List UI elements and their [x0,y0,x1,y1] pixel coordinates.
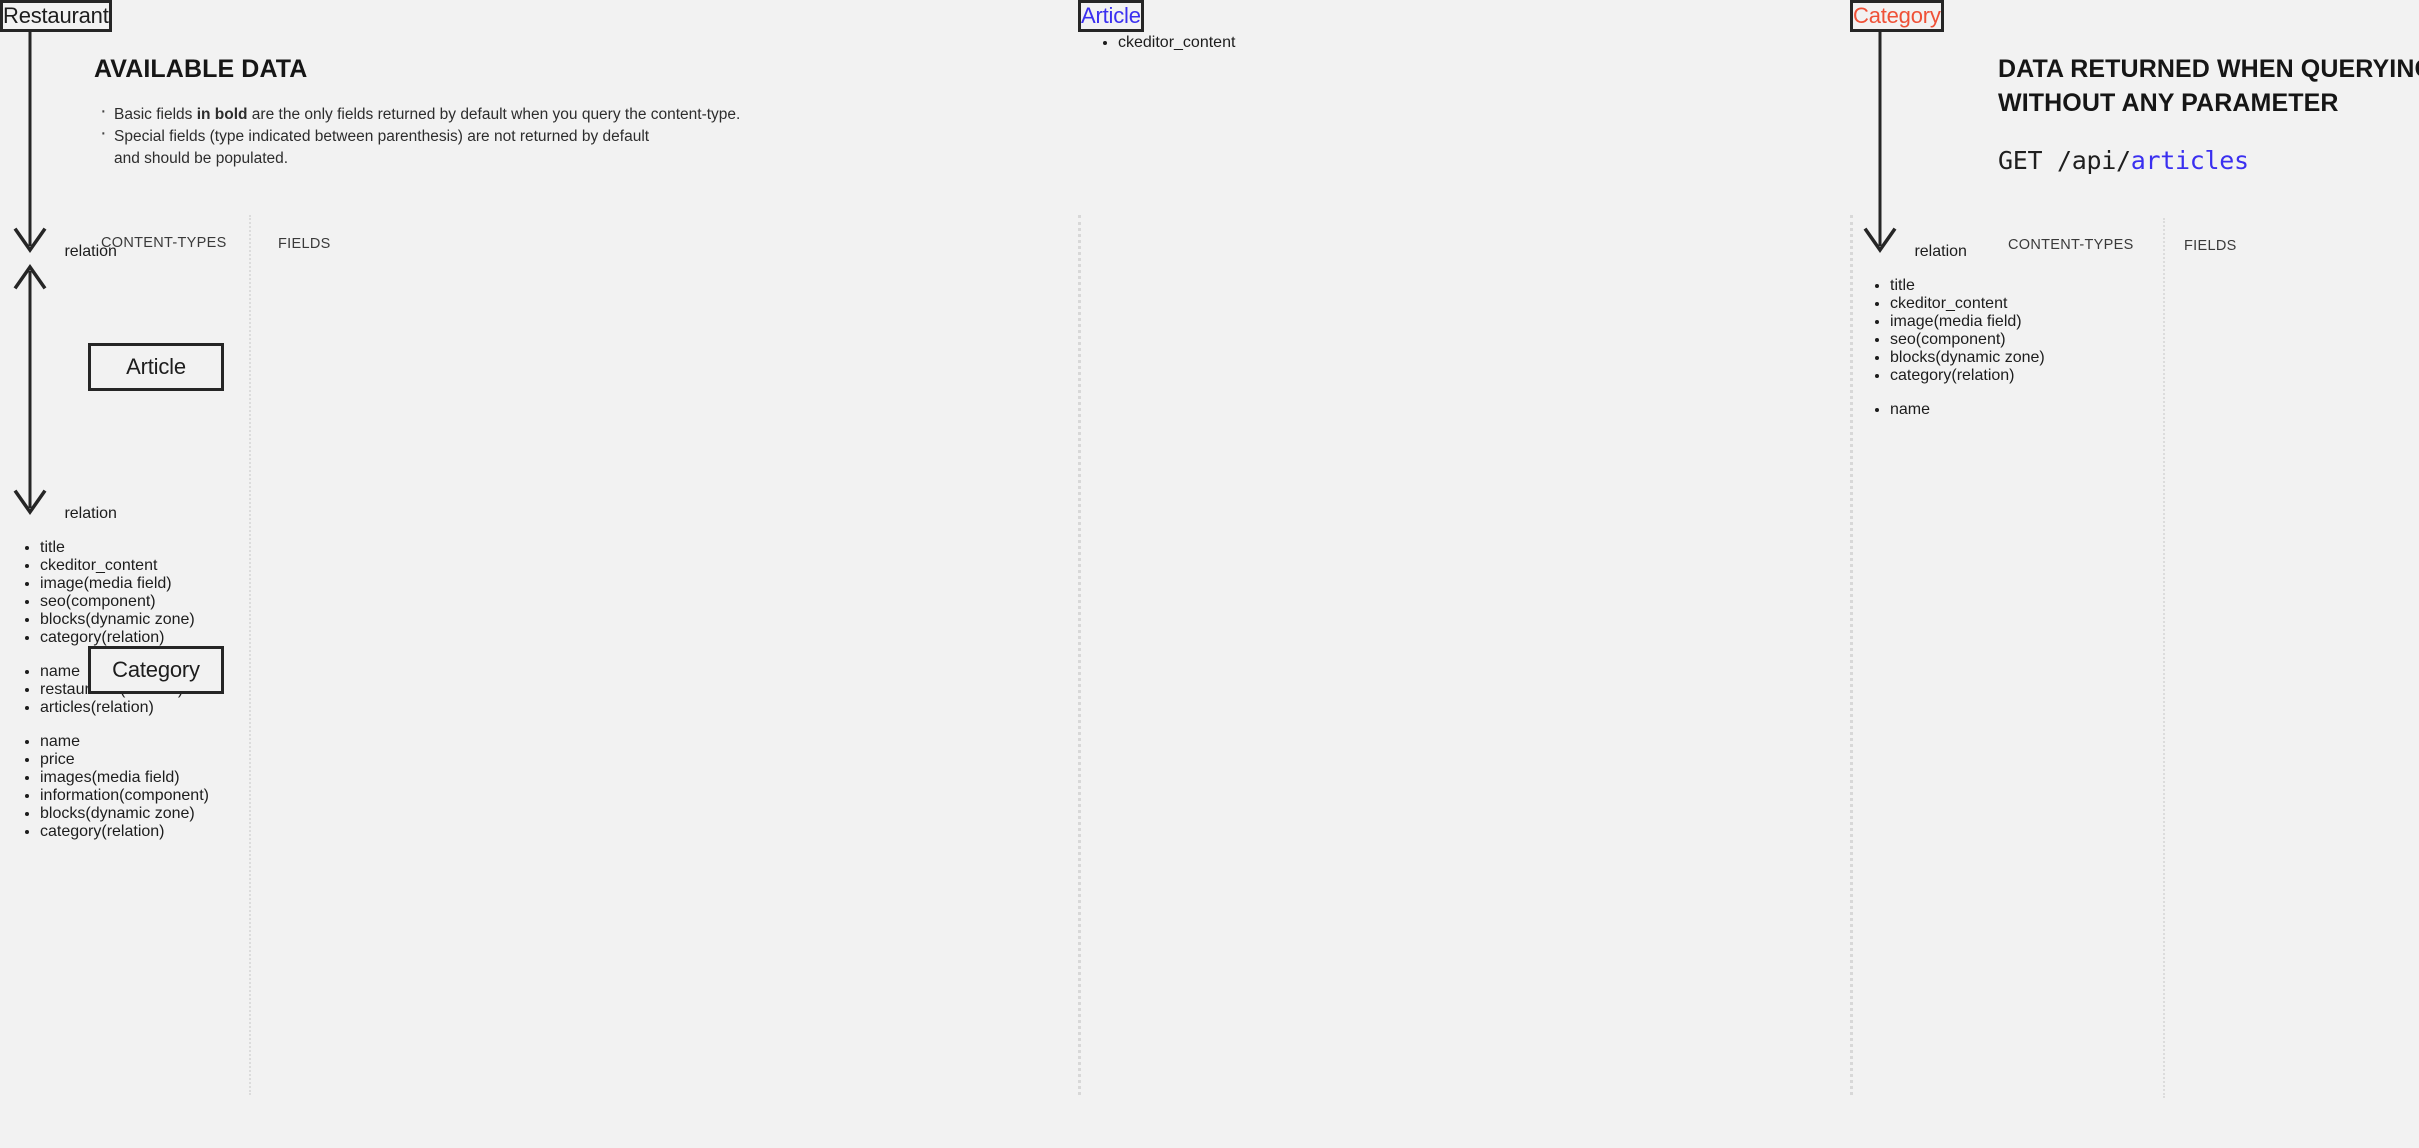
column-label-content-types-available: CONTENT-TYPES [101,235,227,251]
entity-box-category-available-label: Category [112,657,200,683]
intro-bullet-1: Basic fields in bold are the only fields… [98,104,740,125]
relation-label-category-restaurant: relation [64,505,116,522]
field-name: blocks [1890,349,1935,366]
field-type: (component) [1916,331,2006,348]
field-type: (component) [119,787,209,804]
relation-label-article-category-populate: relation [1914,243,1966,260]
field-name: seo [40,593,66,610]
field-item: image(media field) [40,575,1078,593]
field-name: title [40,539,65,556]
panel-populate: DATA RETURNED WHEN QUERYING ARTICLES AND… [1850,0,2419,1148]
column-label-fields-available: FIELDS [278,236,331,252]
field-item: images(media field) [40,769,1078,787]
field-type: (media field) [84,575,172,592]
field-name: blocks [40,611,85,628]
field-item: name [1890,401,2419,419]
entity-box-article-no-parameter[interactable]: Article [1078,0,1144,32]
intro-bullet-1-suffix: are the only fields returned by default … [248,106,741,123]
intro-bullet-1-bold: in bold [197,106,248,123]
field-item: seo(component) [40,593,1078,611]
panel-no-parameter: DATA RETURNED WHEN QUERYING ARTICLES WIT… [1078,0,1850,1148]
entity-box-category-populate-label: Category [1853,3,1941,29]
intro-bullet-2-continuation: and should be populated. [98,148,740,169]
field-name: images [40,769,92,786]
field-type: (dynamic zone) [85,611,194,628]
field-name: blocks [40,805,85,822]
field-type: (media field) [92,769,180,786]
panel-available-data: AVAILABLE DATA Basic fields in bold are … [0,0,1078,1148]
entity-box-article-no-parameter-label: Article [1081,3,1141,29]
field-item-highlighted: category(relation) [1890,367,2419,385]
available-intro-list: Basic fields in bold are the only fields… [98,104,740,170]
entity-box-category-available[interactable]: Category [88,646,224,694]
field-item: ckeditor_content [1890,295,2419,313]
intro-bullet-2: Special fields (type indicated between p… [98,126,740,147]
field-item: blocks(dynamic zone) [40,805,1078,823]
field-name: category [40,629,101,646]
field-name: information [40,787,119,804]
field-name: articles [40,699,91,716]
field-name: category [1890,367,1951,384]
intro-bullet-2-text: Special fields (type indicated between p… [114,128,649,145]
field-list-article-populate: title ckeditor_content image(media field… [1850,277,2419,385]
field-item: title [1118,16,1850,34]
field-item: ckeditor_content [40,557,1078,575]
field-item: articles(relation) [40,699,1078,717]
field-item: title [40,539,1078,557]
entity-box-category-populate[interactable]: Category [1850,0,1944,32]
field-type: (dynamic zone) [85,805,194,822]
relation-arrow-category-restaurant: relation [0,261,1078,523]
field-item: blocks(dynamic zone) [1890,349,2419,367]
entity-box-article-available-label: Article [126,354,186,380]
field-name: ckeditor_content [1890,295,2007,312]
entity-box-article-available[interactable]: Article [88,343,224,391]
field-type: (relation) [101,823,164,840]
field-type: (component) [66,593,156,610]
field-item: category(relation) [40,823,1078,841]
field-type: (dynamic zone) [1935,349,2044,366]
field-item: name [40,733,1078,751]
field-name: name [40,663,80,680]
field-name: image [40,575,84,592]
field-item: blocks(dynamic zone) [40,611,1078,629]
diagram-canvas: AVAILABLE DATA Basic fields in bold are … [0,0,2419,1148]
inner-dotted-divider-available [249,215,251,1095]
field-item: category(relation) [40,629,1078,647]
panel-available-heading: AVAILABLE DATA [94,52,307,86]
field-list-category-populate: name [1850,401,2419,419]
field-list-restaurant-available: name price images(media field) informati… [0,733,1078,841]
relation-arrow-article-category-populate: relation [1850,0,2419,261]
field-list-article-no-parameter: title ckeditor_content [1078,16,1850,52]
field-name: name [40,733,80,750]
field-name: ckeditor_content [40,557,157,574]
field-type: (relation) [1951,367,2014,384]
field-item: title [1890,277,2419,295]
field-name: seo [1890,331,1916,348]
field-name: title [1890,277,1915,294]
field-name: price [40,751,75,768]
field-item: information(component) [40,787,1078,805]
field-item: image(media field) [1890,313,2419,331]
entity-box-restaurant-available[interactable]: Restaurant [0,0,112,32]
entity-box-restaurant-available-label: Restaurant [3,3,109,29]
field-name: category [40,823,101,840]
field-item: ckeditor_content [1118,34,1850,52]
field-list-article-available: title ckeditor_content image(media field… [0,539,1078,647]
field-type: (media field) [1934,313,2022,330]
field-type: (relation) [91,699,154,716]
field-name: ckeditor_content [1118,34,1235,51]
field-item: seo(component) [1890,331,2419,349]
field-name: name [1890,401,1930,418]
field-name: image [1890,313,1934,330]
field-type: (relation) [101,629,164,646]
field-item: price [40,751,1078,769]
intro-bullet-1-prefix: Basic fields [114,106,197,123]
